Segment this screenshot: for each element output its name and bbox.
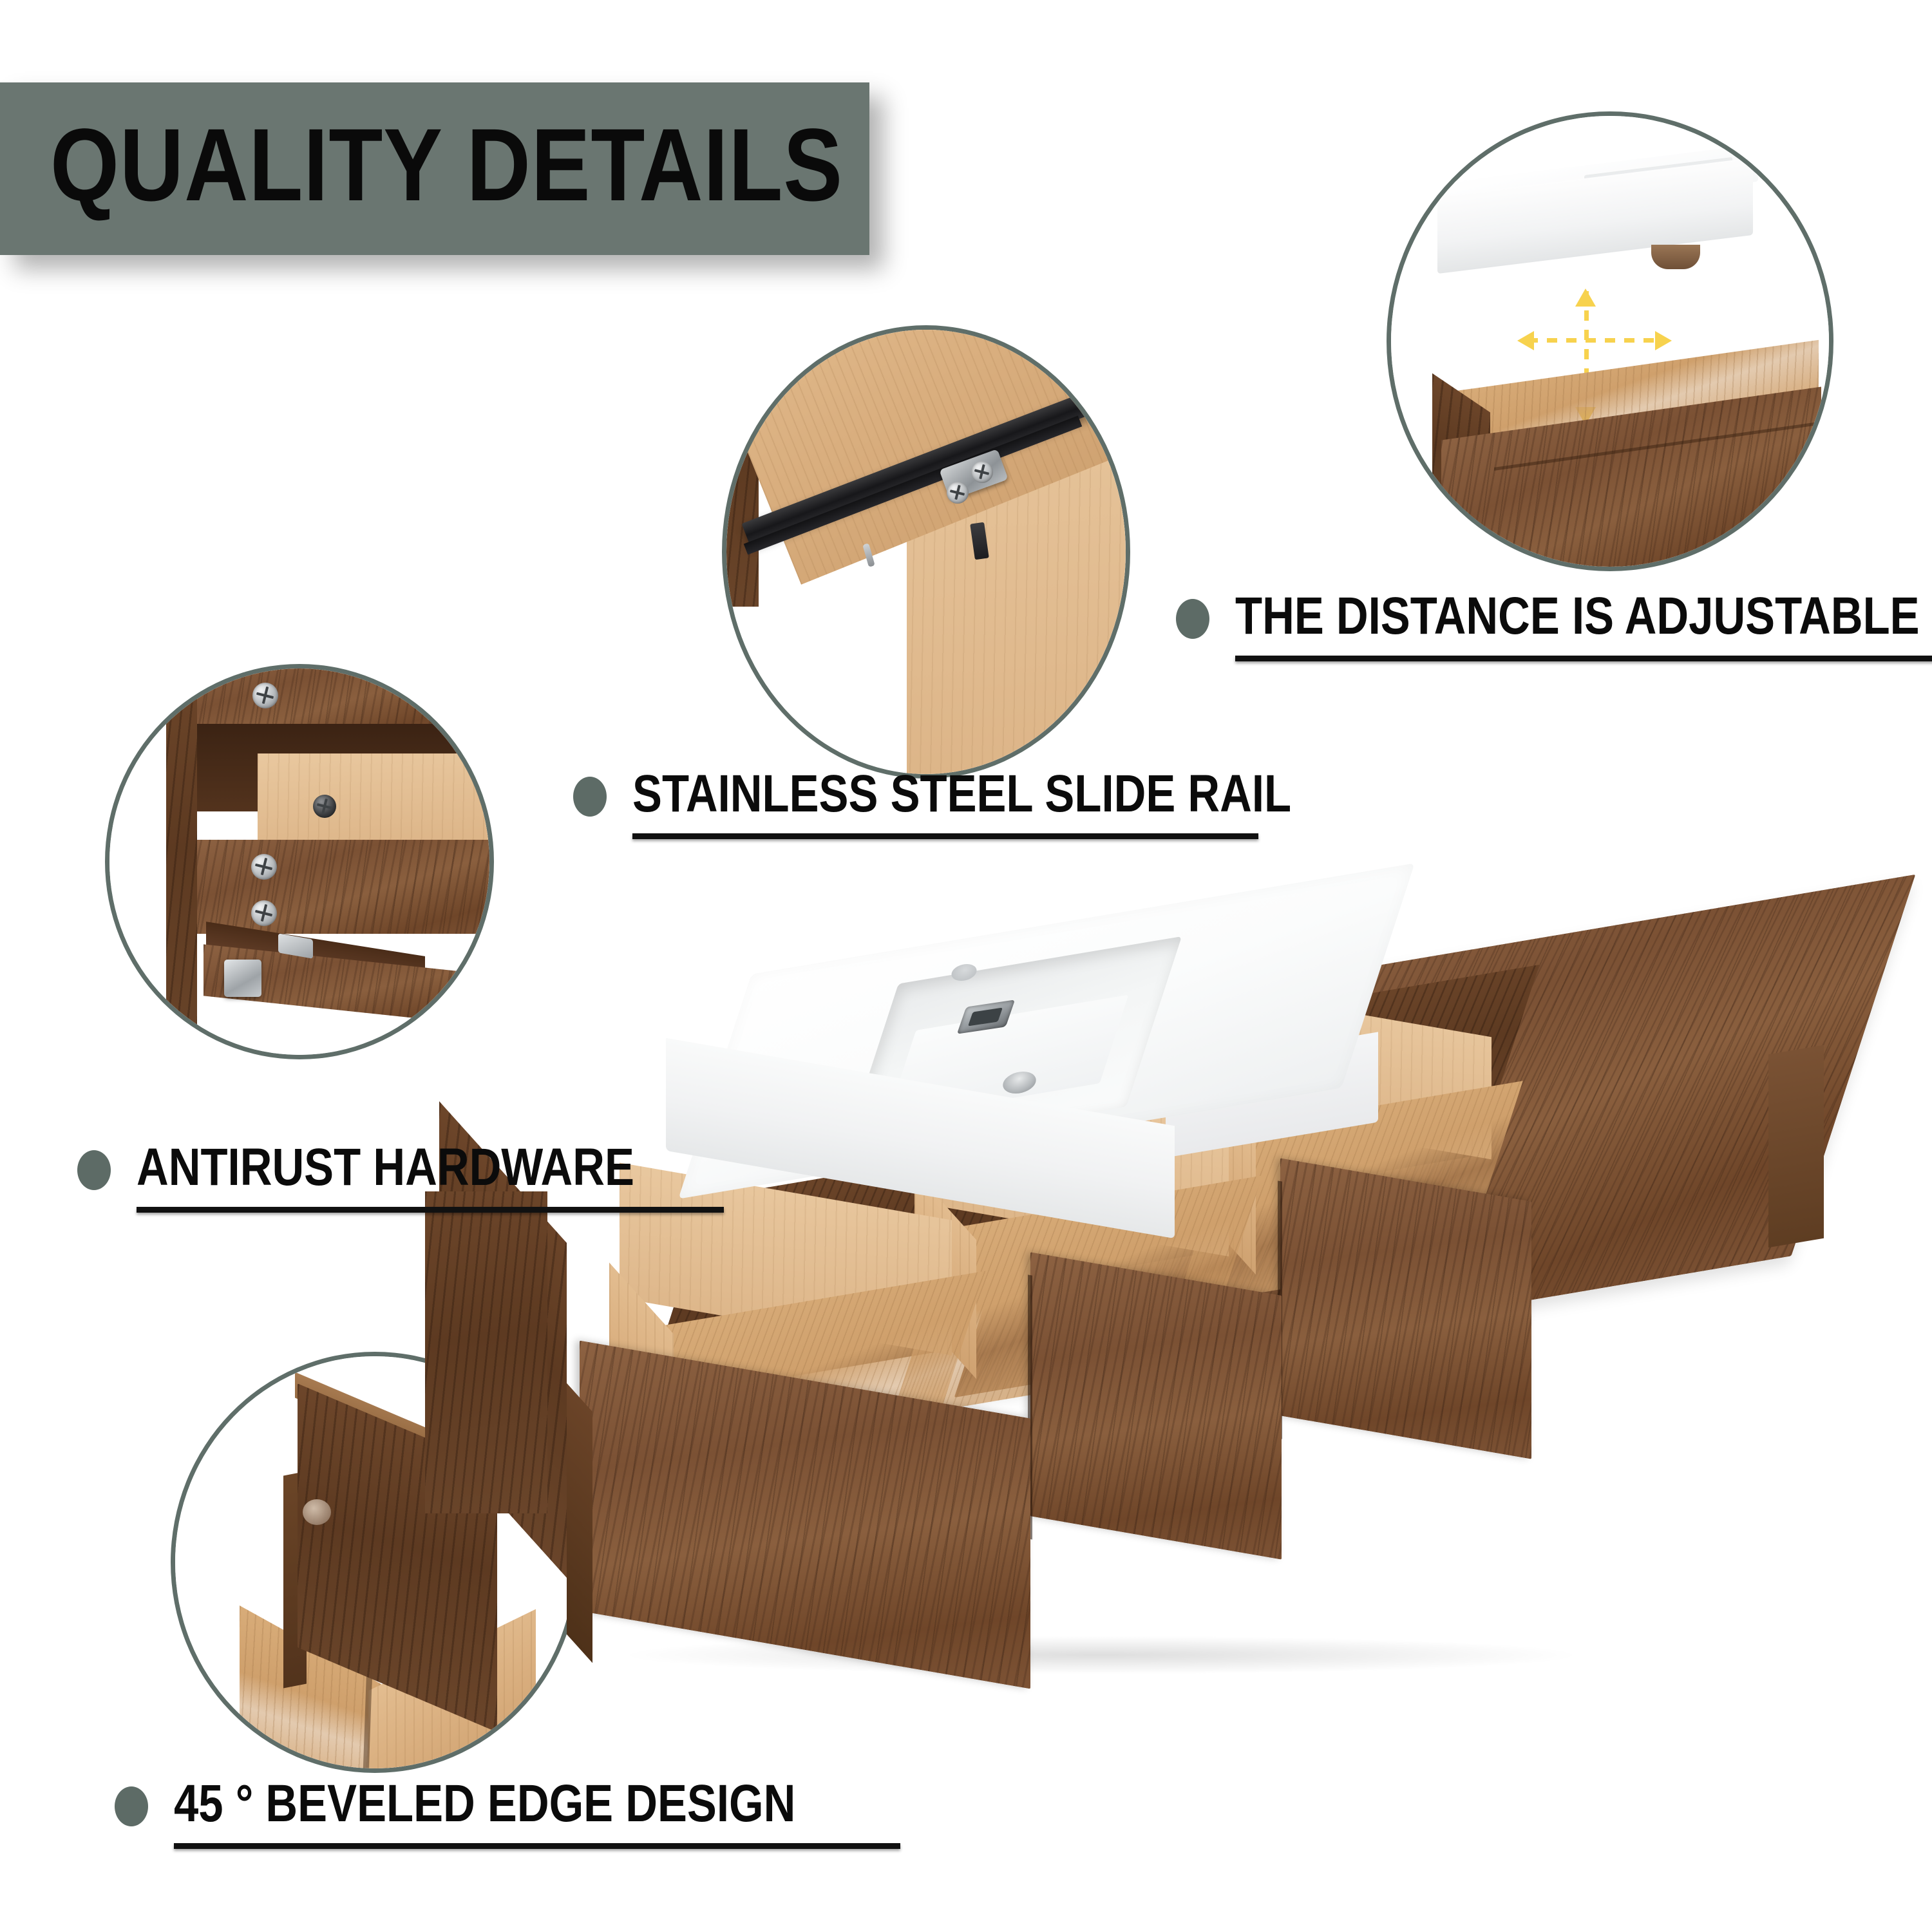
cabinet-right-edge [1768, 1045, 1824, 1248]
oak-drawer-box [258, 753, 489, 844]
callout-text-wrapper: ANTIRUST HARDWARE [137, 1141, 729, 1213]
metal-corner-bracket [224, 960, 261, 997]
cabinet-left-face [425, 1191, 547, 1513]
callout-underline [174, 1843, 900, 1849]
dowel-hole-plug [303, 1499, 331, 1525]
inset-photo-antirust [109, 668, 489, 1055]
screw-icon-dark [313, 795, 336, 818]
floating-bathroom-vanity [696, 889, 1932, 1803]
cabinet-middle-rail [192, 840, 489, 936]
inset-photo-rail [726, 330, 1126, 774]
drawer-front-right[interactable] [1280, 1158, 1531, 1459]
drawer-slide-rail-photo [726, 330, 1126, 774]
callout-underline [137, 1207, 724, 1213]
horizontal-dashed-line [1528, 338, 1660, 343]
callout-slide-rail: STAINLESS STEEL SLIDE RAIL [573, 768, 1417, 839]
callout-distance-adjustable: THE DISTANCE IS ADJUSTABLE [1176, 590, 1932, 661]
bullet-dot-icon [115, 1786, 148, 1826]
callout-text-wrapper: THE DISTANCE IS ADJUSTABLE [1235, 590, 1932, 661]
cabinet-screws-bracket-photo [109, 668, 489, 1055]
cabinet-left-panel [166, 668, 197, 1055]
callout-label-bevel: 45 ° BEVELED EDGE DESIGN [174, 1777, 795, 1830]
screw-icon [947, 482, 969, 504]
callout-label-rail: STAINLESS STEEL SLIDE RAIL [632, 768, 1291, 820]
screw-icon [971, 461, 993, 483]
callout-text-wrapper: 45 ° BEVELED EDGE DESIGN [174, 1777, 914, 1849]
cabinet-top-rail [193, 668, 489, 724]
callout-beveled-edge: 45 ° BEVELED EDGE DESIGN [115, 1777, 914, 1849]
callout-label-distance: THE DISTANCE IS ADJUSTABLE [1235, 590, 1920, 643]
arrow-right-icon [1655, 331, 1672, 350]
bullet-dot-icon [77, 1150, 111, 1190]
callout-label-antirust: ANTIRUST HARDWARE [137, 1141, 634, 1194]
inset-photo-distance [1391, 116, 1829, 567]
screw-icon [251, 900, 277, 926]
sink-height-adjustment-photo [1391, 116, 1829, 567]
callout-underline [1235, 656, 1932, 661]
callout-text-wrapper: STAINLESS STEEL SLIDE RAIL [632, 768, 1417, 839]
bullet-dot-icon [573, 777, 607, 817]
sink-drain-pipe [1651, 245, 1700, 269]
arrow-up-icon [1575, 289, 1596, 307]
callout-antirust-hardware: ANTIRUST HARDWARE [77, 1141, 729, 1213]
drawer-front-middle[interactable] [1030, 1252, 1282, 1559]
drawer-front-left-edge [567, 1383, 592, 1663]
screw-icon [252, 683, 278, 708]
callout-underline [632, 833, 1258, 839]
bullet-dot-icon [1176, 599, 1209, 639]
arrow-left-icon [1517, 331, 1534, 350]
screw-icon [251, 854, 277, 880]
page-title: QUALITY DETAILS [50, 113, 843, 216]
